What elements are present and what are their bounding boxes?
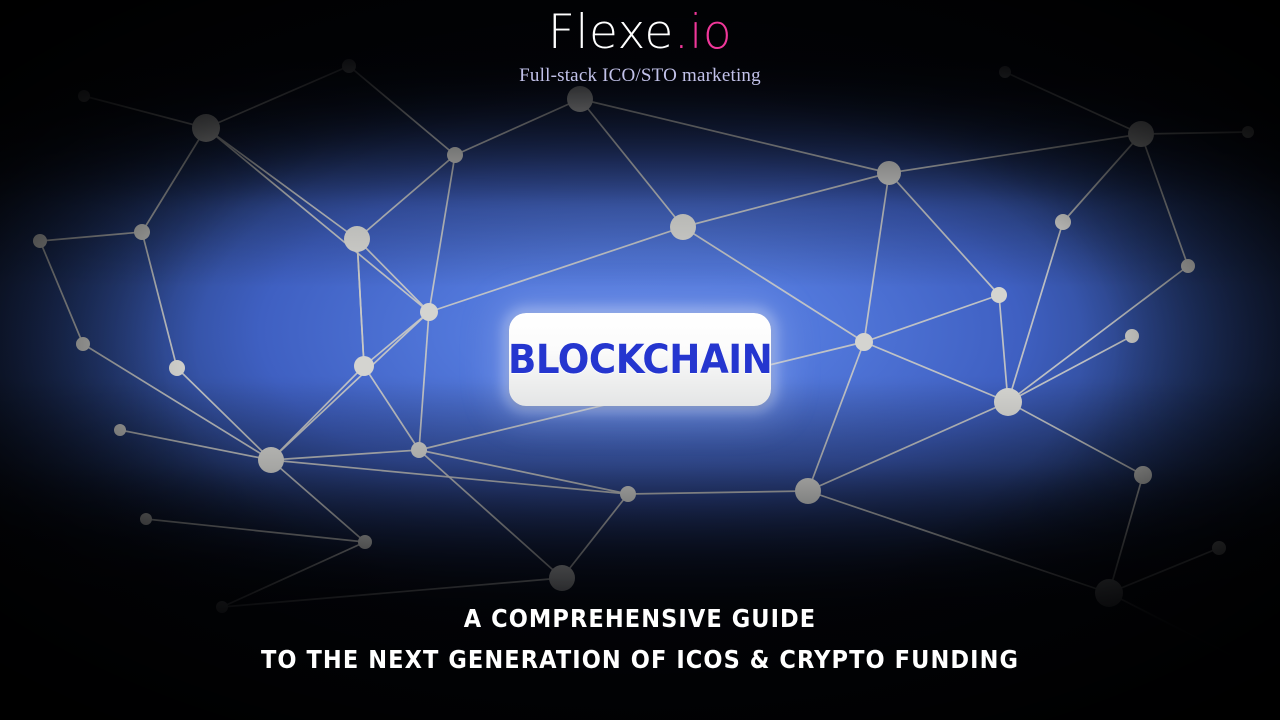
brand-tagline: Full-stack ICO/STO marketing bbox=[0, 65, 1280, 87]
brand-name: Flexe bbox=[548, 5, 674, 60]
headline-block: A COMPREHENSIVE GUIDE TO THE NEXT GENERA… bbox=[0, 604, 1280, 674]
blockchain-badge[interactable]: BLOCKCHAIN bbox=[509, 313, 771, 406]
brand-logo[interactable]: Flexe.io bbox=[0, 9, 1280, 56]
brand-suffix: .io bbox=[674, 5, 732, 60]
brand-header: Flexe.io Full-stack ICO/STO marketing bbox=[0, 0, 1280, 87]
blockchain-badge-label: BLOCKCHAIN bbox=[508, 337, 772, 383]
headline-line-1: A COMPREHENSIVE GUIDE bbox=[64, 604, 1216, 633]
poster-canvas: Flexe.io Full-stack ICO/STO marketing BL… bbox=[0, 0, 1280, 720]
headline-line-2: TO THE NEXT GENERATION OF ICOS & CRYPTO … bbox=[64, 645, 1216, 674]
